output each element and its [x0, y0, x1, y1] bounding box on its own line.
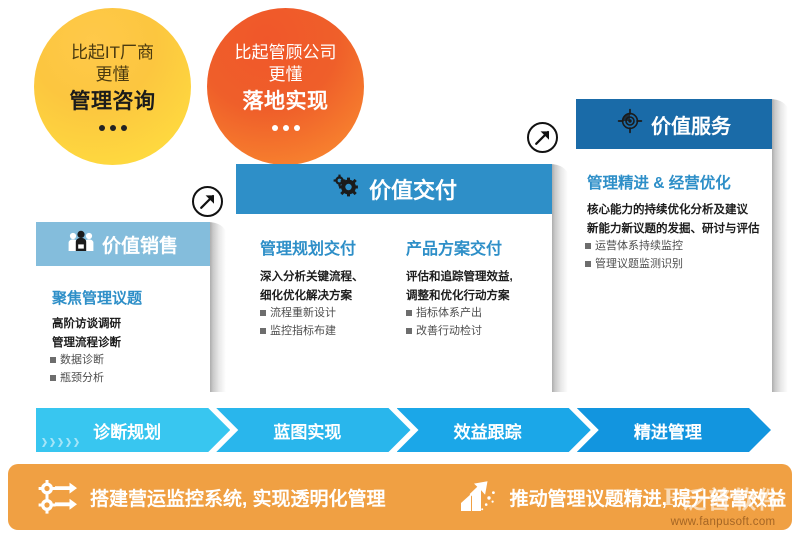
footer-item-improvement: 推动管理议题精进, 提升经营效益: [458, 479, 787, 515]
bullet-square-icon: [585, 243, 591, 249]
bullet-square-icon: [260, 328, 266, 334]
footer-item-text: 搭建营运监控系统, 实现透明化管理: [90, 484, 386, 511]
circle-it-vendor: 比起IT厂商 更懂 管理咨询: [34, 8, 191, 165]
footer-item-text: 推动管理议题精进, 提升经营效益: [510, 484, 787, 511]
column-bullet: 指标体系产出: [406, 305, 552, 323]
card-header: 价值服务: [576, 99, 772, 149]
process-chevron-bar: 诊断规划 蓝图实现 效益跟踪 精进管理: [36, 408, 771, 452]
target-radar-icon: [617, 108, 643, 140]
bullet-square-icon: [260, 310, 266, 316]
process-step-refined-management[interactable]: 精进管理: [577, 408, 771, 452]
card-value-delivery[interactable]: 价值交付 管理规划交付 深入分析关键流程、 细化优化解决方案 流程重新设计 监控…: [236, 164, 552, 392]
card-bullet: 瓶颈分析: [50, 370, 210, 388]
infographic-canvas: 比起IT厂商 更懂 管理咨询 比起管顾公司 更懂 落地实现: [0, 0, 800, 534]
card-bullet: 管理议题监测识别: [585, 256, 772, 274]
card-header: 价值销售: [36, 222, 210, 266]
column-lead-line: 深入分析关键流程、: [260, 268, 406, 287]
card-body: 聚焦管理议题 高阶访谈调研 管理流程诊断 数据诊断 瓶颈分析: [36, 266, 210, 388]
column-subtitle: 产品方案交付: [406, 235, 552, 259]
column-subtitle: 管理规划交付: [260, 235, 406, 259]
gears-icon: [331, 173, 361, 205]
column-bullet: 改善行动检讨: [406, 323, 552, 341]
bullet-label: 数据诊断: [60, 352, 104, 370]
bullet-square-icon: [406, 328, 412, 334]
card-bullet: 数据诊断: [50, 352, 210, 370]
circle-line-1: 比起IT厂商: [71, 42, 154, 64]
card-side-panel: [770, 99, 788, 392]
bullet-label: 运营体系持续监控: [595, 238, 683, 256]
card-title: 价值销售: [102, 231, 178, 258]
card-value-sales[interactable]: 价值销售 聚焦管理议题 高阶访谈调研 管理流程诊断 数据诊断 瓶颈分析: [36, 222, 210, 392]
delivery-column-planning: 管理规划交付 深入分析关键流程、 细化优化解决方案 流程重新设计 监控指标布建: [260, 223, 406, 341]
bullet-label: 改善行动检讨: [416, 323, 482, 341]
column-lead-line: 评估和追踪管理效益,: [406, 268, 552, 287]
process-step-blueprint[interactable]: 蓝图实现: [216, 408, 410, 452]
card-body: 管理规划交付 深入分析关键流程、 细化优化解决方案 流程重新设计 监控指标布建 …: [236, 214, 552, 341]
card-bullet: 运营体系持续监控: [585, 238, 772, 256]
column-bullet: 监控指标布建: [260, 323, 406, 341]
process-step-label: 蓝图实现: [273, 418, 353, 443]
process-step-diagnosis[interactable]: 诊断规划: [36, 408, 230, 452]
card-lead-line: 核心能力的持续优化分析及建议: [587, 201, 772, 220]
delivery-column-product: 产品方案交付 评估和追踪管理效益, 调整和优化行动方案 指标体系产出 改善行动检…: [406, 223, 552, 341]
bullet-square-icon: [50, 357, 56, 363]
process-step-label: 效益跟踪: [454, 418, 534, 443]
bullet-label: 指标体系产出: [416, 305, 482, 323]
card-title: 价值交付: [369, 173, 457, 205]
circle-line-2: 更懂: [96, 64, 130, 86]
circle-line-2: 更懂: [269, 64, 303, 86]
circle-dots: [99, 125, 127, 131]
footer-banner: 搭建营运监控系统, 实现透明化管理 推动管理议题精进, 提升经营效益: [8, 464, 792, 530]
column-lead-line: 细化优化解决方案: [260, 287, 406, 306]
circle-line-3: 管理咨询: [70, 89, 156, 116]
card-lead-line: 新能力新议题的发掘、研讨与评估: [587, 220, 772, 239]
footer-item-monitoring: 搭建营运监控系统, 实现透明化管理: [38, 479, 386, 515]
column-bullet: 流程重新设计: [260, 305, 406, 323]
card-subtitle: 管理精进 & 经营优化: [587, 171, 772, 193]
circle-line-3: 落地实现: [243, 89, 329, 116]
arrow-up-right-circle-icon: [527, 122, 558, 153]
circle-line-1: 比起管顾公司: [235, 42, 337, 64]
card-header: 价值交付: [236, 164, 552, 214]
growth-chart-icon: [458, 479, 498, 515]
process-step-benefit-tracking[interactable]: 效益跟踪: [397, 408, 591, 452]
card-side-panel: [550, 164, 568, 392]
card-subtitle: 聚焦管理议题: [52, 287, 210, 308]
column-lead-line: 调整和优化行动方案: [406, 287, 552, 306]
bullet-label: 瓶颈分析: [60, 370, 104, 388]
bullet-square-icon: [50, 375, 56, 381]
bullet-label: 监控指标布建: [270, 323, 336, 341]
arrow-up-right-circle-icon: [192, 186, 223, 217]
mini-chevron-icon: [42, 438, 79, 447]
card-body: 管理精进 & 经营优化 核心能力的持续优化分析及建议 新能力新议题的发掘、研讨与…: [576, 149, 772, 274]
bullet-square-icon: [406, 310, 412, 316]
card-value-service[interactable]: 价值服务 管理精进 & 经营优化 核心能力的持续优化分析及建议 新能力新议题的发…: [576, 99, 772, 392]
people-group-icon: [68, 230, 94, 258]
bullet-label: 流程重新设计: [270, 305, 336, 323]
process-step-label: 诊断规划: [93, 418, 173, 443]
process-step-label: 精进管理: [634, 418, 714, 443]
circle-dots: [272, 125, 300, 131]
bullet-label: 管理议题监测识别: [595, 256, 683, 274]
bullet-square-icon: [585, 261, 591, 267]
card-lead-line: 管理流程诊断: [52, 334, 210, 353]
gears-arrows-icon: [38, 479, 78, 515]
circle-consulting-firm: 比起管顾公司 更懂 落地实现: [207, 8, 364, 165]
card-title: 价值服务: [651, 110, 731, 139]
card-lead-line: 高阶访谈调研: [52, 315, 210, 334]
card-side-panel: [208, 222, 226, 392]
